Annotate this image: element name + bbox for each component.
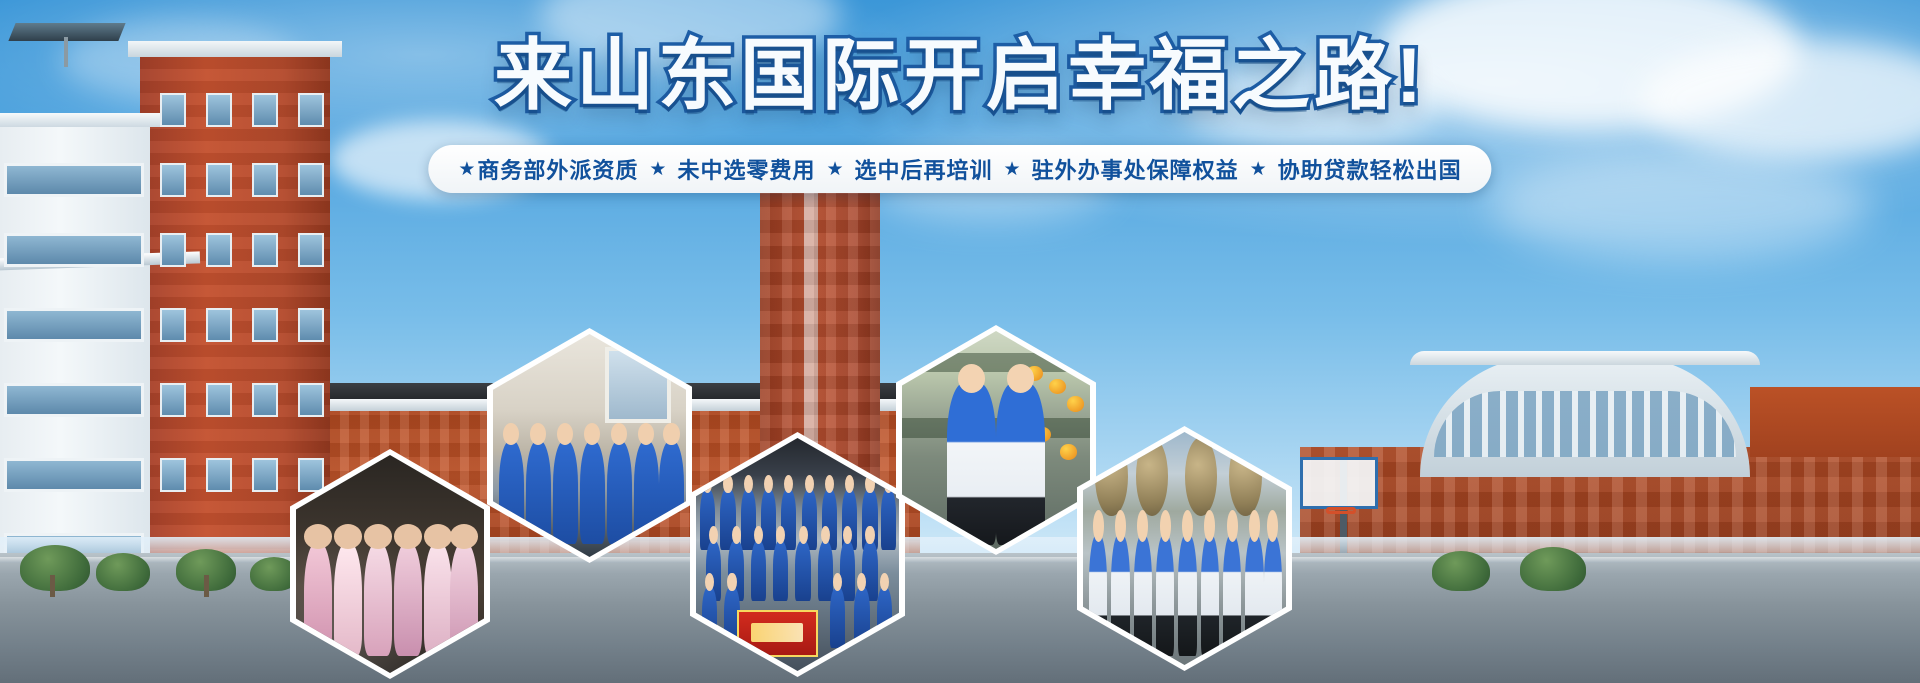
- feature-item-5: 协助贷款轻松出国: [1278, 153, 1462, 185]
- star-icon: ★: [638, 160, 677, 179]
- group-banner-photo: [690, 432, 905, 677]
- classroom-cooking-photo: [487, 328, 692, 563]
- feature-item-2: 未中选零费用: [677, 153, 815, 185]
- star-icon: ★: [993, 160, 1032, 179]
- photo-collage: [0, 223, 1920, 683]
- feature-item-4: 驻外办事处保障权益: [1032, 153, 1239, 185]
- star-icon: ★: [1239, 160, 1278, 179]
- supermarket-students-photo: [896, 325, 1096, 555]
- kimono-group-photo: [290, 449, 490, 679]
- feature-highlight-bar: ★ 商务部外派资质 ★ 未中选零费用 ★ 选中后再培训 ★ 驻外办事处保障权益 …: [428, 145, 1491, 193]
- star-icon: ★: [458, 160, 477, 179]
- feature-item-3: 选中后再培训: [855, 153, 993, 185]
- star-icon: ★: [815, 160, 854, 179]
- outdoor-group-photo: [1077, 426, 1292, 671]
- feature-item-1: 商务部外派资质: [477, 153, 638, 185]
- page-title: 来山东国际开启幸福之路!: [0, 36, 1920, 114]
- promo-banner: 来山东国际开启幸福之路! ★ 商务部外派资质 ★ 未中选零费用 ★ 选中后再培训…: [0, 0, 1920, 683]
